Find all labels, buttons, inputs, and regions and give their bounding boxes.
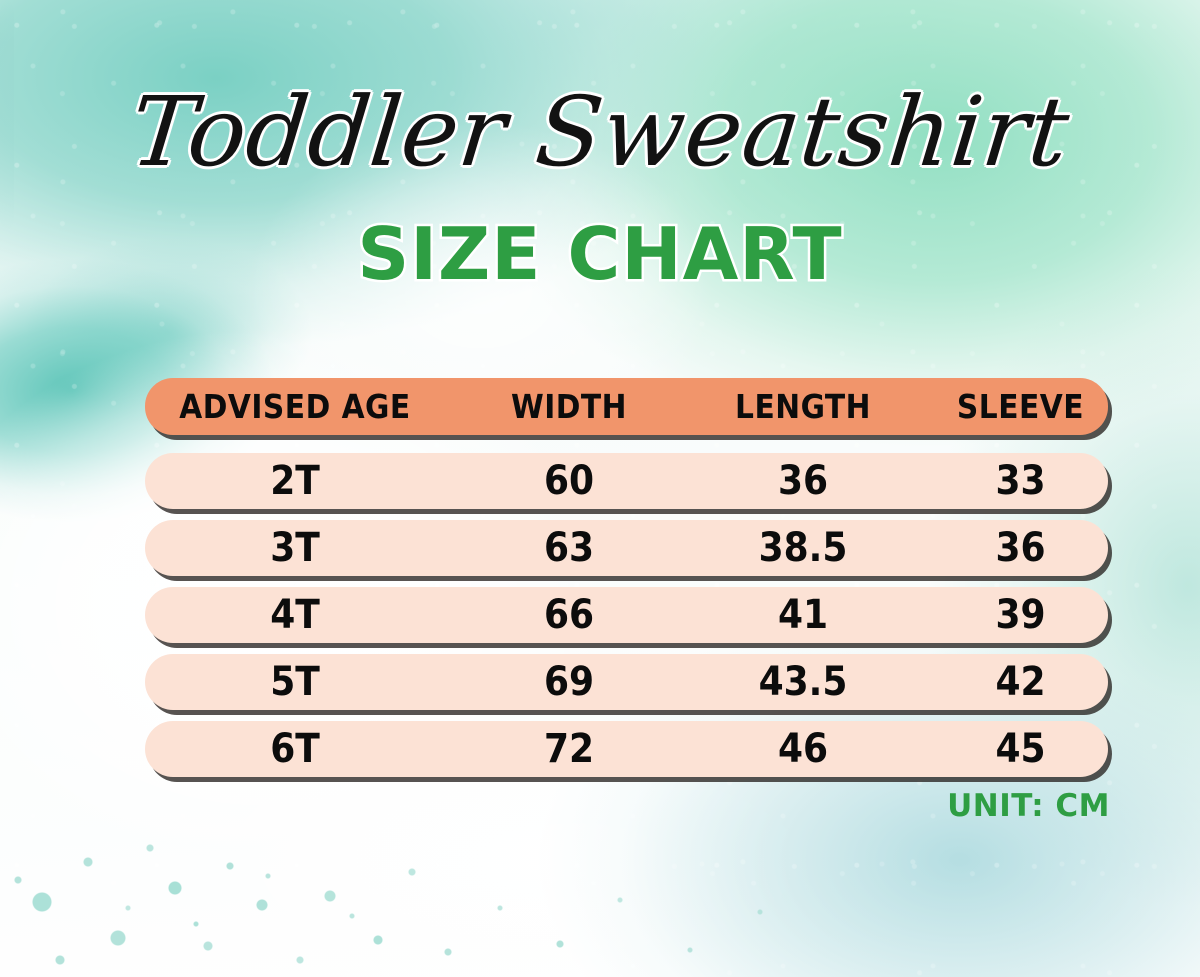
table-row: 5T 69 43.5 42 — [145, 654, 1108, 710]
page-title: Toddler Sweatshirt — [0, 76, 1200, 188]
table-header-row: ADVISED AGE WIDTH LENGTH SLEEVE — [145, 378, 1108, 435]
cell-width: 63 — [459, 525, 679, 571]
cell-sleeve: 42 — [933, 659, 1108, 705]
column-header-sleeve: SLEEVE — [933, 387, 1108, 426]
size-chart-poster: Toddler Sweatshirt SIZE CHART ADVISED AG… — [0, 0, 1200, 977]
cell-width: 66 — [459, 592, 679, 638]
column-header-advised-age: ADVISED AGE — [145, 387, 445, 426]
cell-age: 3T — [145, 525, 445, 571]
page-subtitle: SIZE CHART — [0, 218, 1200, 290]
cell-age: 2T — [145, 458, 445, 504]
cell-age: 4T — [145, 592, 445, 638]
column-header-length: LENGTH — [693, 387, 913, 426]
size-chart-table: ADVISED AGE WIDTH LENGTH SLEEVE 2T 60 36… — [145, 378, 1108, 788]
cell-length: 43.5 — [693, 659, 913, 705]
cell-length: 36 — [693, 458, 913, 504]
cell-width: 69 — [459, 659, 679, 705]
table-row: 3T 63 38.5 36 — [145, 520, 1108, 576]
cell-sleeve: 45 — [933, 726, 1108, 772]
table-row: 6T 72 46 45 — [145, 721, 1108, 777]
cell-sleeve: 36 — [933, 525, 1108, 571]
column-header-width: WIDTH — [459, 387, 679, 426]
cell-age: 6T — [145, 726, 445, 772]
cell-age: 5T — [145, 659, 445, 705]
table-row: 4T 66 41 39 — [145, 587, 1108, 643]
unit-label: UNIT: CM — [947, 788, 1110, 824]
cell-sleeve: 39 — [933, 592, 1108, 638]
cell-width: 60 — [459, 458, 679, 504]
cell-length: 38.5 — [693, 525, 913, 571]
table-row: 2T 60 36 33 — [145, 453, 1108, 509]
cell-length: 46 — [693, 726, 913, 772]
cell-width: 72 — [459, 726, 679, 772]
cell-sleeve: 33 — [933, 458, 1108, 504]
cell-length: 41 — [693, 592, 913, 638]
